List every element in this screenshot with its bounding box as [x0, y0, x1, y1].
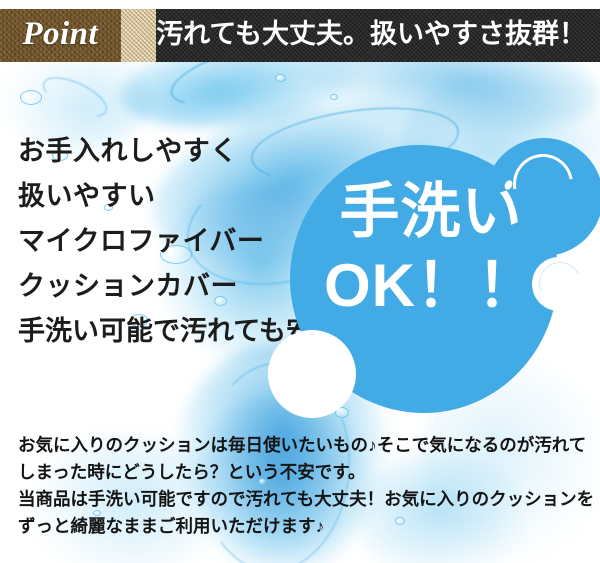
header-beige-divider — [121, 9, 157, 62]
header-bar: Point 汚れても大丈夫。扱いやすさ抜群！ — [0, 9, 600, 62]
water-droplet — [330, 94, 338, 100]
body-copy-line-1: お気に入りのクッションは毎日使いたいもの♪そこで気になるのが汚れて — [18, 432, 590, 459]
point-logo-panel: Point — [0, 9, 121, 62]
header-title-panel: 汚れても大丈夫。扱いやすさ抜群！ — [156, 9, 600, 62]
badge-line-1: 手洗い — [306, 182, 556, 242]
water-droplet — [275, 74, 286, 82]
white-bubble-left — [268, 330, 356, 418]
body-copy-line-4: ずっと綺麗なままご利用いただけます♪ — [18, 513, 590, 540]
handwash-ok-badge: 手洗い OK！！ — [270, 140, 600, 430]
body-copy-line-3: 当商品は手洗い可能ですので汚れても大丈夫！お気に入りのクッションを — [18, 486, 590, 513]
body-copy-line-2: しまった時にどうしたら？という不安です。 — [18, 459, 590, 486]
badge-line-2: OK！！ — [306, 256, 556, 316]
water-droplet — [20, 90, 42, 105]
promo-poster: Point 汚れても大丈夫。扱いやすさ抜群！ — [0, 0, 600, 563]
body-copy-block: お気に入りのクッションは毎日使いたいもの♪そこで気になるのが汚れて しまった時に… — [18, 432, 590, 540]
header-title: 汚れても大丈夫。扱いやすさ抜群！ — [156, 21, 586, 48]
point-logo-text: Point — [22, 18, 98, 51]
badge-text-block: 手洗い OK！！ — [306, 182, 556, 316]
